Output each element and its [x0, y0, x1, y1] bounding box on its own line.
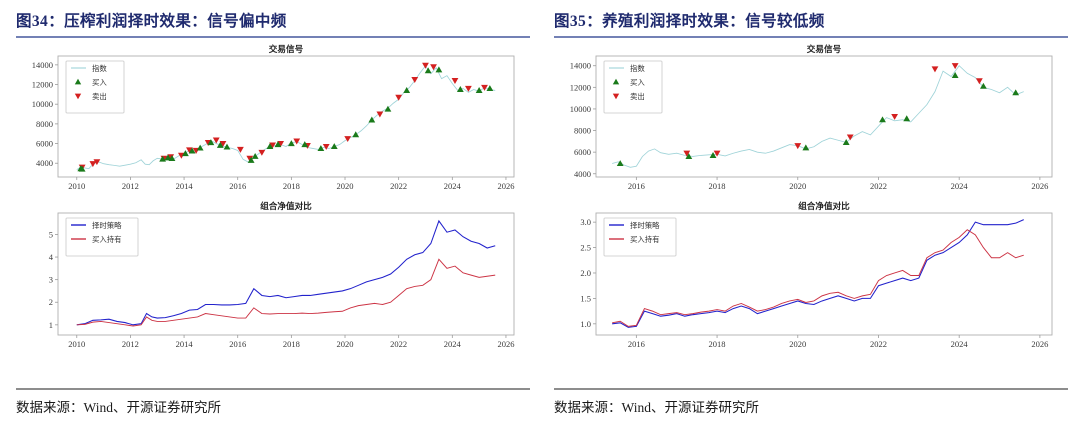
y-tick-label: 6000: [574, 147, 591, 157]
chart-34-signal-svg: 交易信号400060008000100001200014000201020122…: [16, 40, 528, 195]
legend-label: 买入持有: [630, 235, 660, 244]
legend-label: 指数: [630, 64, 645, 73]
sell-marker: [237, 147, 244, 153]
sell-marker: [323, 144, 330, 150]
y-tick-label: 14000: [570, 61, 591, 71]
sell-marker: [411, 77, 418, 83]
y-tick-label: 1.0: [580, 319, 591, 329]
legend-label: 买入: [630, 78, 645, 87]
legend-label: 卖出: [630, 92, 645, 101]
legend-label: 择时策略: [630, 221, 660, 230]
x-tick-label: 2026: [1031, 339, 1048, 349]
legend-label: 买入持有: [92, 235, 122, 244]
chart-35-signal-svg: 交易信号400060008000100001200014000201620182…: [554, 40, 1066, 195]
sell-marker: [932, 66, 939, 72]
figure-35-title: 图35：养殖利润择时效果：信号较低频: [554, 0, 1068, 36]
y-tick-label: 10000: [570, 104, 591, 114]
figure-34-charts: 交易信号400060008000100001200014000201020122…: [16, 38, 530, 355]
x-tick-label: 2012: [122, 181, 139, 191]
x-tick-label: 2024: [951, 339, 969, 349]
source-divider-34: [16, 388, 530, 390]
series-line-指数: [77, 66, 495, 170]
chart-35-nav: 组合净值对比1.01.52.02.53.02016201820202022202…: [554, 195, 1068, 355]
y-tick-label: 10000: [32, 99, 53, 109]
x-tick-label: 2016: [229, 339, 246, 349]
figure-34-title-text: 压榨利润择时效果：信号偏中频: [64, 13, 287, 30]
y-tick-label: 3: [49, 275, 53, 285]
x-tick-label: 2016: [628, 339, 645, 349]
figure-34-number: 图34：: [16, 13, 64, 30]
x-tick-label: 2024: [444, 181, 462, 191]
sell-marker: [293, 139, 300, 145]
x-tick-label: 2014: [176, 181, 194, 191]
x-tick-label: 2024: [951, 181, 969, 191]
y-tick-label: 2.0: [580, 268, 591, 278]
x-tick-label: 2014: [176, 339, 194, 349]
source-note-34: 数据来源：Wind、开源证券研究所: [16, 396, 221, 416]
figure-panel-35: 图35：养殖利润择时效果：信号较低频 交易信号40006000800010000…: [540, 0, 1080, 424]
y-tick-label: 5: [49, 229, 53, 239]
series-line-买入持有: [77, 259, 495, 326]
x-tick-label: 2012: [122, 339, 139, 349]
y-tick-label: 3.0: [580, 217, 591, 227]
sell-marker: [422, 63, 429, 69]
y-tick-label: 1.5: [580, 293, 591, 303]
legend-label: 择时策略: [92, 221, 122, 230]
y-tick-label: 1: [49, 320, 53, 330]
plot-frame: [58, 56, 514, 177]
legend-label: 卖出: [92, 92, 107, 101]
buy-marker: [425, 67, 432, 73]
y-tick-label: 12000: [32, 80, 53, 90]
y-tick-label: 14000: [32, 60, 53, 70]
buy-marker: [617, 160, 624, 166]
x-tick-label: 2022: [870, 339, 887, 349]
x-tick-label: 2026: [497, 181, 514, 191]
plot-frame: [596, 56, 1052, 177]
x-tick-label: 2026: [497, 339, 514, 349]
x-tick-label: 2022: [390, 181, 407, 191]
x-tick-label: 2018: [283, 181, 300, 191]
y-tick-label: 8000: [36, 119, 53, 129]
sell-marker: [794, 143, 801, 149]
buy-marker: [352, 131, 359, 137]
x-tick-label: 2022: [390, 339, 407, 349]
buy-marker: [980, 83, 987, 89]
series-line-指数: [612, 66, 1024, 168]
x-tick-label: 2016: [628, 181, 645, 191]
buy-marker: [486, 85, 493, 91]
series-line-择时策略: [77, 221, 495, 325]
y-tick-label: 12000: [570, 82, 591, 92]
chart-34-nav-svg: 组合净值对比1234520102012201420162018202020222…: [16, 195, 528, 355]
buy-marker: [197, 145, 204, 151]
x-tick-label: 2010: [68, 339, 85, 349]
chart-title: 组合净值对比: [798, 200, 850, 211]
sell-marker: [344, 136, 351, 142]
chart-34-signal: 交易信号400060008000100001200014000201020122…: [16, 40, 530, 195]
y-tick-label: 4000: [574, 169, 591, 179]
chart-35-nav-svg: 组合净值对比1.01.52.02.53.02016201820202022202…: [554, 195, 1066, 355]
x-tick-label: 2022: [870, 181, 887, 191]
chart-34-nav: 组合净值对比1234520102012201420162018202020222…: [16, 195, 530, 355]
chart-title: 组合净值对比: [260, 200, 312, 211]
y-tick-label: 4000: [36, 158, 53, 168]
figure-panel-34: 图34：压榨利润择时效果：信号偏中频 交易信号40006000800010000…: [0, 0, 540, 424]
buy-marker: [802, 144, 809, 150]
title-divider-34: [16, 36, 530, 38]
source-divider-35: [554, 388, 1068, 390]
x-tick-label: 2026: [1031, 181, 1048, 191]
figure-pair-page: 图34：压榨利润择时效果：信号偏中频 交易信号40006000800010000…: [0, 0, 1080, 424]
figure-35-charts: 交易信号400060008000100001200014000201620182…: [554, 38, 1068, 355]
x-tick-label: 2018: [283, 339, 300, 349]
x-tick-label: 2018: [709, 181, 726, 191]
chart-35-signal: 交易信号400060008000100001200014000201620182…: [554, 40, 1068, 195]
x-tick-label: 2020: [789, 181, 806, 191]
figure-34-title: 图34：压榨利润择时效果：信号偏中频: [16, 0, 530, 36]
y-tick-label: 2.5: [580, 243, 591, 253]
chart-title: 交易信号: [807, 43, 842, 54]
chart-title: 交易信号: [269, 43, 304, 54]
buy-marker: [288, 140, 295, 146]
x-tick-label: 2020: [337, 339, 354, 349]
buy-marker: [385, 106, 392, 112]
x-tick-label: 2024: [444, 339, 462, 349]
x-tick-label: 2018: [709, 339, 726, 349]
sell-marker: [452, 78, 459, 84]
legend-label: 指数: [92, 64, 107, 73]
x-tick-label: 2010: [68, 181, 85, 191]
sell-marker: [891, 114, 898, 120]
figure-35-number: 图35：: [554, 13, 602, 30]
title-divider-35: [554, 36, 1068, 38]
source-note-35: 数据来源：Wind、开源证券研究所: [554, 396, 759, 416]
buy-marker: [903, 115, 910, 121]
sell-marker: [430, 64, 437, 70]
x-tick-label: 2020: [337, 181, 354, 191]
x-tick-label: 2016: [229, 181, 246, 191]
sell-marker: [976, 78, 983, 84]
y-tick-label: 2: [49, 297, 53, 307]
x-tick-label: 2020: [789, 339, 806, 349]
figure-35-title-text: 养殖利润择时效果：信号较低频: [602, 13, 825, 30]
y-tick-label: 4: [49, 252, 54, 262]
y-tick-label: 8000: [574, 126, 591, 136]
sell-marker: [395, 95, 402, 101]
y-tick-label: 6000: [36, 139, 53, 149]
legend-label: 买入: [92, 78, 107, 87]
